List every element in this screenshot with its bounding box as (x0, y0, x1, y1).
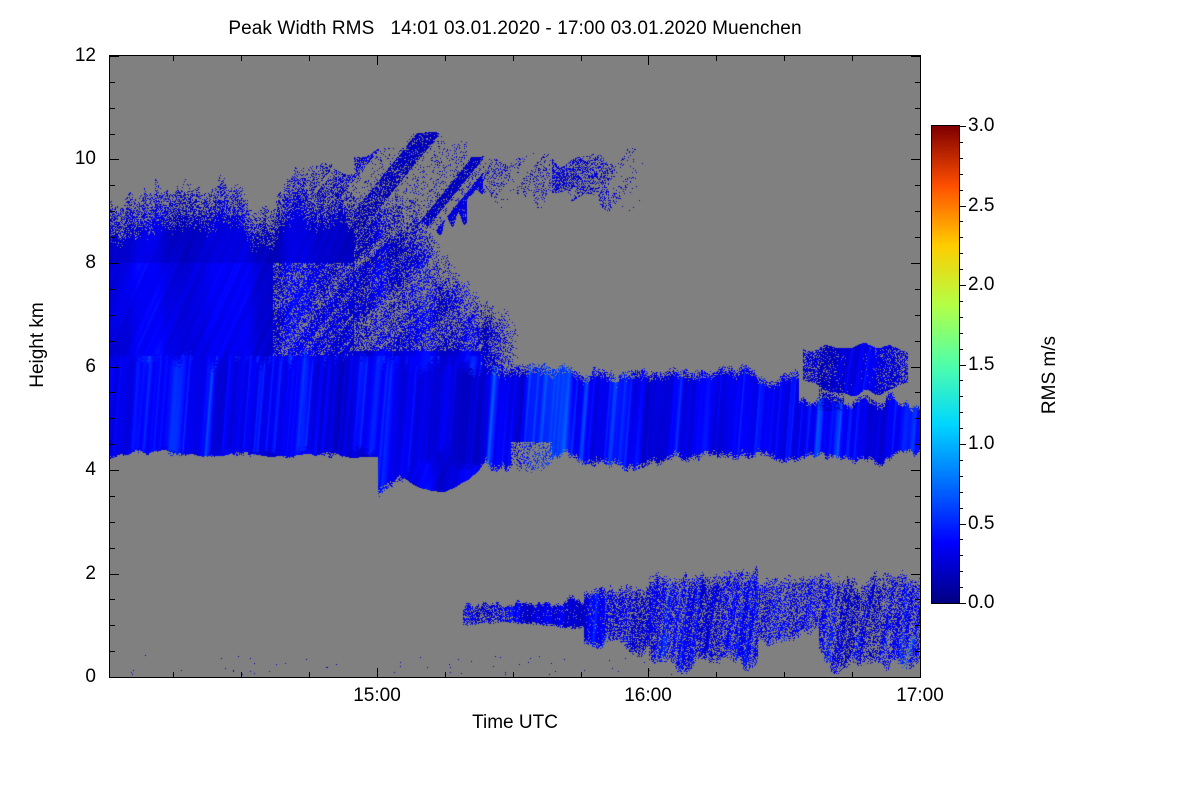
y-axis-minor-tick-right (915, 392, 920, 393)
y-axis-minor-tick-right (915, 522, 920, 523)
y-axis-tick (110, 574, 119, 575)
colorbar-minor-tick (959, 237, 963, 238)
page-title: Peak Width RMS 14:01 03.01.2020 - 17:00 … (0, 18, 1030, 40)
y-axis-minor-tick-right (915, 289, 920, 290)
y-axis-minor-tick-right (915, 651, 920, 652)
y-axis-minor-tick-right (915, 82, 920, 83)
y-axis-minor-tick-right (915, 237, 920, 238)
y-axis-tick-right (911, 677, 920, 678)
colorbar-tick-label: 2.0 (968, 275, 1028, 294)
radar-heatmap-canvas (110, 56, 920, 677)
colorbar (932, 126, 959, 603)
y-axis-minor-tick-right (915, 211, 920, 212)
y-axis-tick-right (911, 574, 920, 575)
y-axis-tick-right (911, 367, 920, 368)
y-axis-minor-tick (110, 211, 115, 212)
radar-timeheight-figure: Peak Width RMS 14:01 03.01.2020 - 17:00 … (0, 0, 1200, 800)
colorbar-minor-tick (959, 412, 963, 413)
colorbar-tick (959, 206, 966, 207)
y-axis-minor-tick (110, 599, 115, 600)
y-axis-title: Height km (27, 245, 49, 445)
x-axis-tick (377, 668, 378, 677)
y-axis-tick-label: 10 (36, 149, 96, 168)
colorbar-minor-tick (959, 142, 963, 143)
y-axis-minor-tick (110, 315, 115, 316)
colorbar-minor-tick (959, 380, 963, 381)
y-axis-minor-tick (110, 82, 115, 83)
colorbar-tick-label: 1.0 (968, 434, 1028, 453)
y-axis-minor-tick (110, 341, 115, 342)
colorbar-minor-tick (959, 158, 963, 159)
colorbar-minor-tick (959, 396, 963, 397)
y-axis-minor-tick (110, 392, 115, 393)
y-axis-minor-tick (110, 625, 115, 626)
colorbar-tick (959, 365, 966, 366)
x-axis-tick (920, 668, 921, 677)
y-axis-minor-tick-right (915, 548, 920, 549)
y-axis-minor-tick-right (915, 108, 920, 109)
y-axis-minor-tick-right (915, 625, 920, 626)
colorbar-tick-label: 0.5 (968, 514, 1028, 533)
colorbar-tick (959, 285, 966, 286)
colorbar-gradient (931, 125, 960, 604)
x-axis-minor-tick (241, 672, 242, 677)
y-axis-tick-right (911, 470, 920, 471)
y-axis-minor-tick (110, 548, 115, 549)
colorbar-minor-tick (959, 349, 963, 350)
x-axis-minor-tick-top (513, 56, 514, 61)
y-axis-tick (110, 159, 119, 160)
colorbar-minor-tick (959, 221, 963, 222)
y-axis-tick (110, 367, 119, 368)
colorbar-minor-tick (959, 428, 963, 429)
y-axis-tick-label: 0 (36, 667, 96, 686)
colorbar-minor-tick (959, 508, 963, 509)
y-axis-minor-tick (110, 289, 115, 290)
colorbar-tick-label: 3.0 (968, 116, 1028, 135)
y-axis-minor-tick (110, 496, 115, 497)
colorbar-minor-tick (959, 317, 963, 318)
y-axis-tick (110, 470, 119, 471)
colorbar-minor-tick (959, 269, 963, 270)
x-axis-minor-tick-top (445, 56, 446, 61)
colorbar-minor-tick (959, 476, 963, 477)
x-axis-minor-tick (784, 672, 785, 677)
colorbar-tick (959, 603, 966, 604)
colorbar-minor-tick (959, 492, 963, 493)
colorbar-minor-tick (959, 174, 963, 175)
x-axis-minor-tick (445, 672, 446, 677)
y-axis-minor-tick-right (915, 599, 920, 600)
x-axis-minor-tick-top (581, 56, 582, 61)
x-axis-tick-label: 17:00 (860, 686, 980, 705)
x-axis-tick (648, 668, 649, 677)
x-axis-tick-top (648, 56, 649, 65)
y-axis-tick (110, 56, 119, 57)
plot-area (109, 55, 921, 678)
colorbar-tick (959, 444, 966, 445)
x-axis-minor-tick (581, 672, 582, 677)
colorbar-minor-tick (959, 539, 963, 540)
x-axis-tick-top (377, 56, 378, 65)
x-axis-minor-tick-top (784, 56, 785, 61)
y-axis-minor-tick (110, 651, 115, 652)
y-axis-minor-tick (110, 522, 115, 523)
y-axis-tick-label: 4 (36, 460, 96, 479)
colorbar-minor-tick (959, 587, 963, 588)
y-axis-tick (110, 263, 119, 264)
x-axis-minor-tick (716, 672, 717, 677)
colorbar-minor-tick (959, 190, 963, 191)
colorbar-minor-tick (959, 333, 963, 334)
x-axis-tick-label: 16:00 (588, 686, 708, 705)
y-axis-minor-tick (110, 134, 115, 135)
colorbar-minor-tick (959, 460, 963, 461)
y-axis-minor-tick-right (915, 341, 920, 342)
x-axis-minor-tick (852, 672, 853, 677)
y-axis-minor-tick-right (915, 496, 920, 497)
x-axis-minor-tick-top (716, 56, 717, 61)
colorbar-minor-tick (959, 253, 963, 254)
y-axis-minor-tick (110, 418, 115, 419)
y-axis-minor-tick (110, 237, 115, 238)
colorbar-tick-label: 2.5 (968, 196, 1028, 215)
x-axis-title: Time UTC (110, 712, 920, 734)
y-axis-tick-right (911, 56, 920, 57)
x-axis-tick-label: 15:00 (317, 686, 437, 705)
y-axis-tick-label: 12 (36, 46, 96, 65)
x-axis-minor-tick-top (241, 56, 242, 61)
y-axis-tick-right (911, 159, 920, 160)
x-axis-minor-tick-top (173, 56, 174, 61)
x-axis-minor-tick (513, 672, 514, 677)
y-axis-minor-tick-right (915, 185, 920, 186)
y-axis-tick (110, 677, 119, 678)
colorbar-tick-label: 0.0 (968, 593, 1028, 612)
colorbar-tick (959, 524, 966, 525)
colorbar-tick (959, 126, 966, 127)
y-axis-minor-tick-right (915, 418, 920, 419)
y-axis-tick-label: 2 (36, 564, 96, 583)
x-axis-minor-tick-top (852, 56, 853, 61)
y-axis-minor-tick (110, 108, 115, 109)
x-axis-minor-tick (173, 672, 174, 677)
y-axis-minor-tick (110, 444, 115, 445)
colorbar-title: RMS m/s (1039, 265, 1061, 485)
y-axis-minor-tick (110, 185, 115, 186)
x-axis-tick-top (920, 56, 921, 65)
colorbar-tick-label: 1.5 (968, 355, 1028, 374)
y-axis-minor-tick-right (915, 134, 920, 135)
y-axis-tick-right (911, 263, 920, 264)
colorbar-minor-tick (959, 301, 963, 302)
y-axis-minor-tick-right (915, 315, 920, 316)
y-axis-minor-tick-right (915, 444, 920, 445)
x-axis-minor-tick (309, 672, 310, 677)
x-axis-minor-tick-top (309, 56, 310, 61)
colorbar-minor-tick (959, 555, 963, 556)
colorbar-minor-tick (959, 571, 963, 572)
